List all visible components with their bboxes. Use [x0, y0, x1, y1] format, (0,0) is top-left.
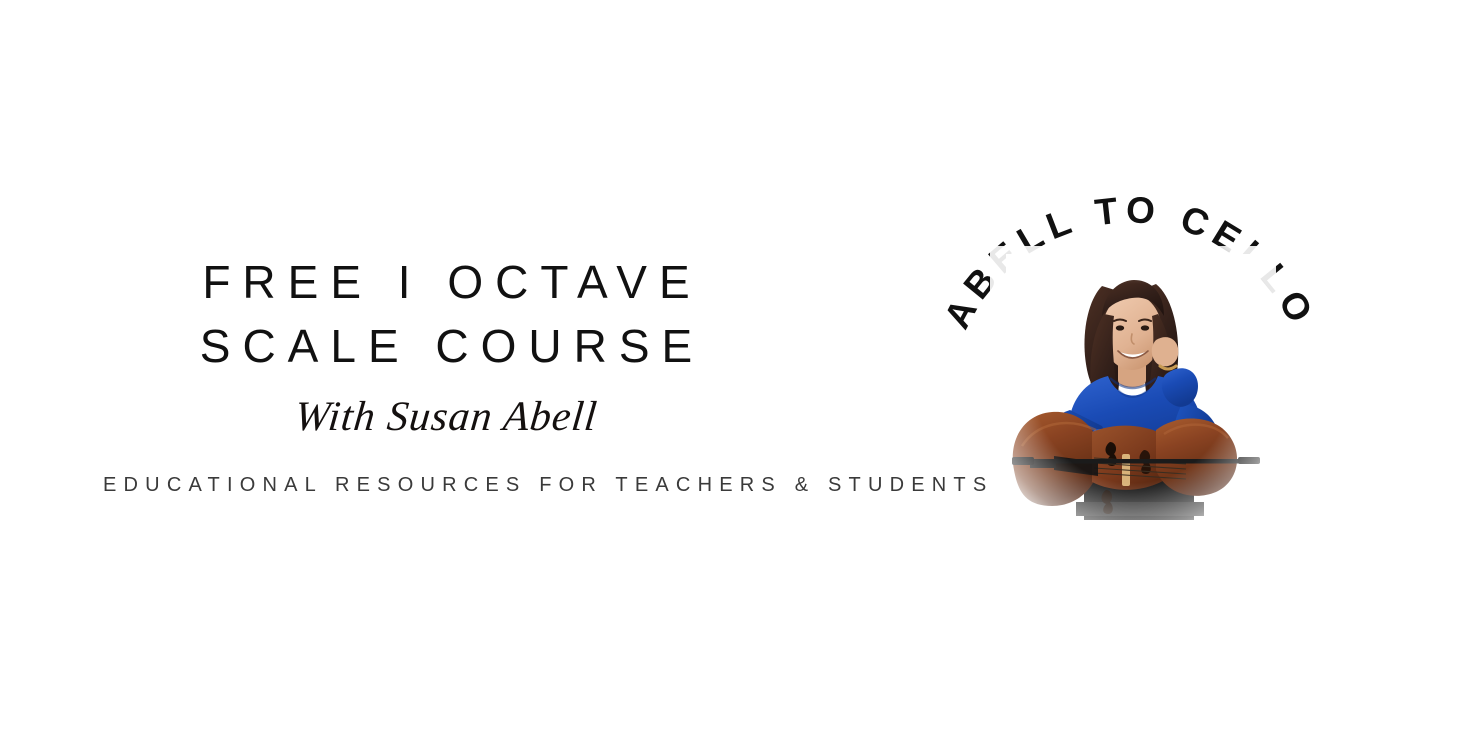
- tagline: EDUCATIONAL RESOURCES FOR TEACHERS & STU…: [96, 470, 796, 500]
- headline-line-1: FREE I OCTAVE: [96, 250, 796, 314]
- headline-line-2: SCALE COURSE: [96, 314, 796, 378]
- susan-abell-photo: [1006, 254, 1260, 520]
- presenter-name: With Susan Abell: [93, 388, 799, 446]
- hand-right: [1152, 337, 1179, 366]
- brand-logo[interactable]: ABELL TO CELLO: [930, 196, 1330, 536]
- photo-illustration: [1006, 254, 1260, 520]
- promo-banner: FREE I OCTAVE SCALE COURSE With Susan Ab…: [0, 0, 1460, 752]
- headline-block: FREE I OCTAVE SCALE COURSE With Susan Ab…: [96, 250, 796, 500]
